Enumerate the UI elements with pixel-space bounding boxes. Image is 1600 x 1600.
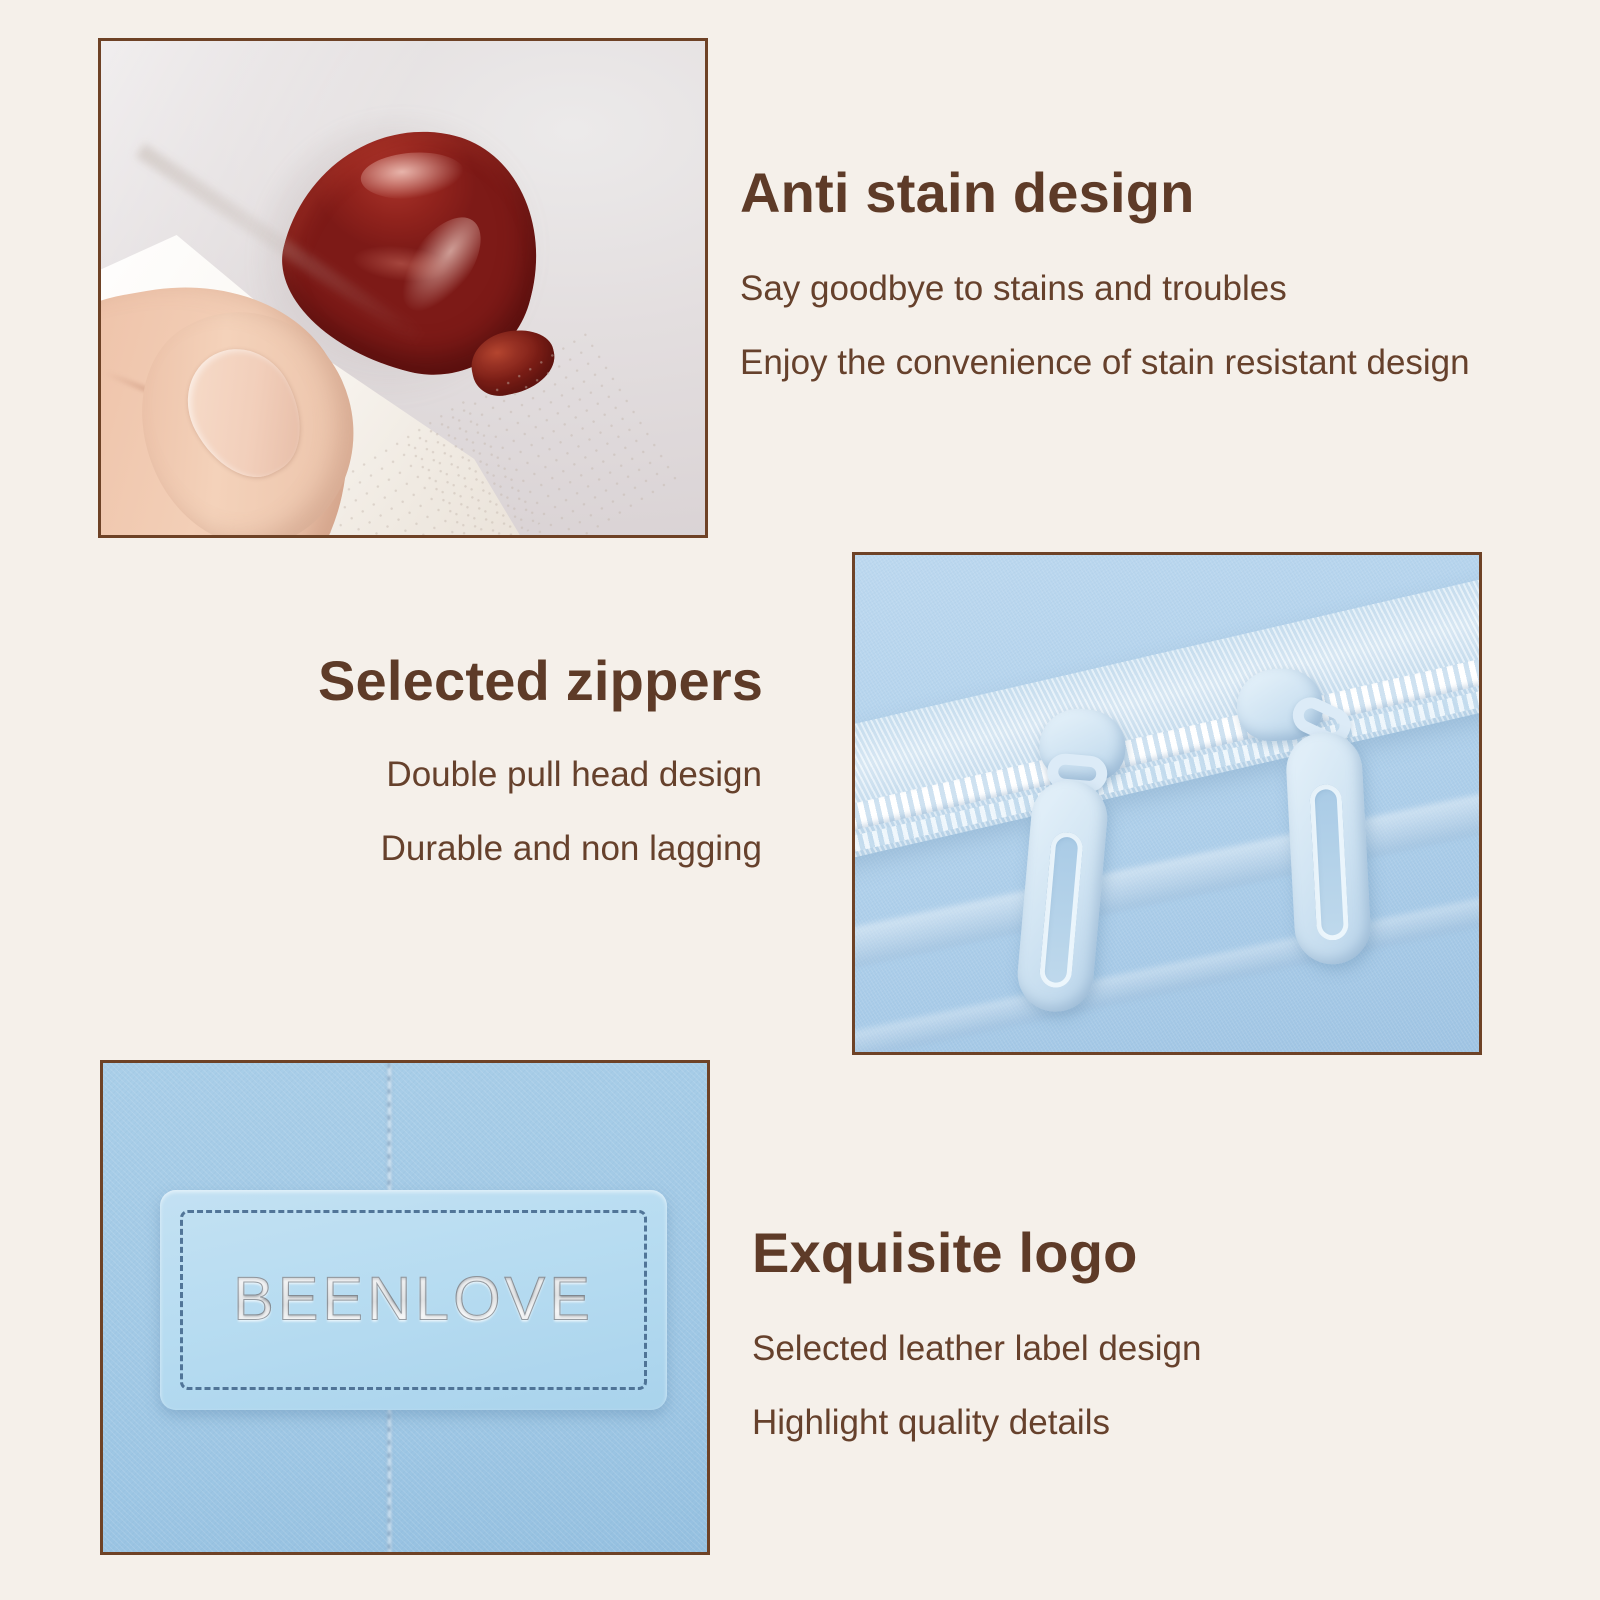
zipper-tab-hole-left [1038, 831, 1083, 989]
anti-stain-text-block: Anti stain design Say goodbye to stains … [740, 162, 1470, 383]
anti-stain-line-2: Enjoy the convenience of stain resistant… [740, 344, 1470, 383]
infographic-canvas: Anti stain design Say goodbye to stains … [0, 0, 1600, 1600]
anti-stain-title: Anti stain design [740, 162, 1470, 224]
exquisite-logo-line-1: Selected leather label design [752, 1330, 1201, 1369]
exquisite-logo-title: Exquisite logo [752, 1222, 1201, 1284]
stain-wipe-photo [98, 38, 708, 538]
exquisite-logo-line-2: Highlight quality details [752, 1404, 1201, 1443]
zipper-tab-right [1284, 731, 1372, 967]
ketchup-highlight-a [359, 149, 466, 202]
zipper-tab-hole-right [1309, 784, 1349, 941]
selected-zippers-line-1: Double pull head design [318, 756, 762, 795]
selected-zippers-line-2: Durable and non lagging [318, 830, 762, 869]
logo-patch-photo: BEENLOVE [100, 1060, 710, 1555]
selected-zippers-title: Selected zippers [318, 650, 762, 712]
brand-logo-text: BEENLOVE [160, 1264, 667, 1334]
exquisite-logo-text-block: Exquisite logo Selected leather label de… [752, 1222, 1201, 1443]
selected-zippers-text-block: Selected zippers Double pull head design… [318, 650, 762, 869]
zipper-closeup-photo [852, 552, 1482, 1055]
anti-stain-line-1: Say goodbye to stains and troubles [740, 270, 1470, 309]
leather-label-patch: BEENLOVE [160, 1190, 667, 1410]
